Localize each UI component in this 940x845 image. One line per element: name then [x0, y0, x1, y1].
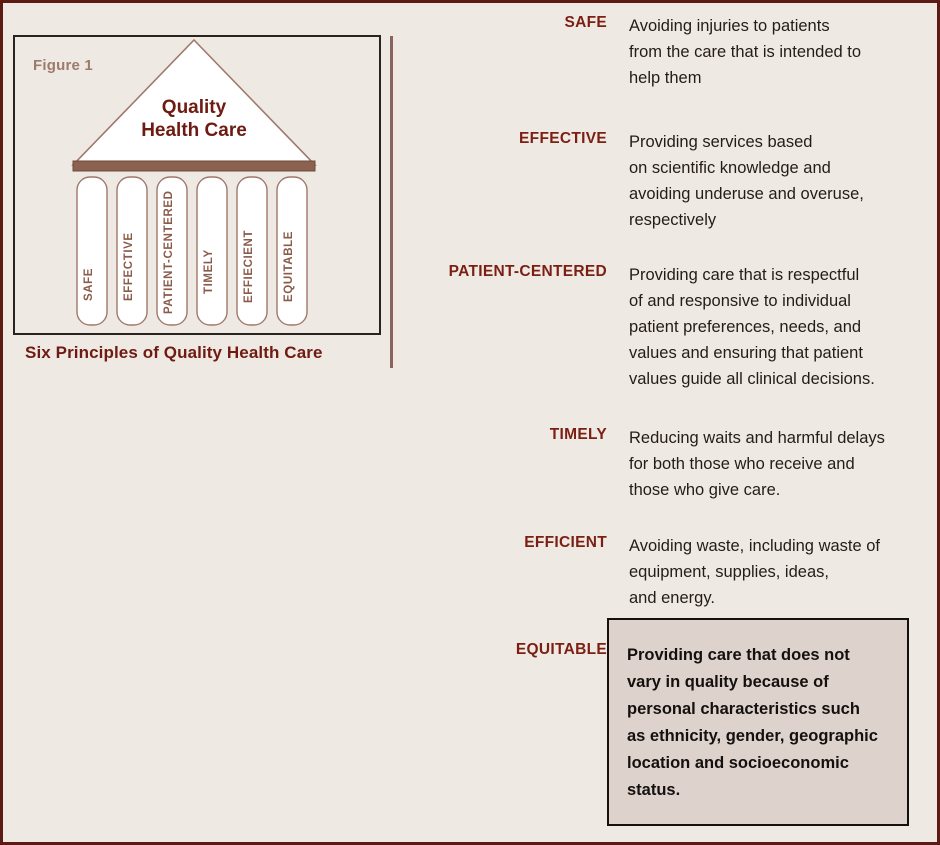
definition-term-safe: SAFE: [401, 13, 607, 32]
definition-term-equitable: EQUITABLE: [401, 640, 607, 659]
figure-right-rule: [390, 36, 393, 368]
roof-title-line2: Health Care: [141, 120, 247, 141]
figure-page: Figure 1 Quality Health Care SAFE EFFECT…: [0, 0, 940, 845]
definition-term-efficient: EFFICIENT: [401, 533, 607, 552]
definition-description-safe: Avoiding injuries to patients from the c…: [629, 13, 861, 91]
figure-panel: Figure 1 Quality Health Care SAFE EFFECT…: [13, 35, 381, 335]
principles-definition-list: SAFE Avoiding injuries to patients from …: [401, 3, 931, 845]
definition-term-timely: TIMELY: [401, 425, 607, 444]
definition-row-effective: EFFECTIVE Providing services based on sc…: [401, 129, 864, 233]
roof-title-line1: Quality: [162, 97, 227, 118]
column-label-patient-centered: PATIENT-CENTERED: [163, 190, 175, 314]
definition-row-timely: TIMELY Reducing waits and harmful delays…: [401, 425, 885, 503]
definition-description-timely: Reducing waits and harmful delays for bo…: [629, 425, 885, 503]
quality-health-care-house-diagram: Quality Health Care SAFE EFFECTIVE PATIE…: [15, 37, 379, 333]
column-label-safe: SAFE: [83, 268, 95, 301]
definition-row-patient-centered: PATIENT-CENTERED Providing care that is …: [401, 262, 875, 392]
definition-row-efficient: EFFICIENT Avoiding waste, including wast…: [401, 533, 880, 611]
column-label-effective: EFFECTIVE: [123, 232, 135, 301]
definition-term-effective: EFFECTIVE: [401, 129, 607, 148]
definition-row-equitable: EQUITABLE Providing care that does not v…: [401, 640, 607, 659]
column-label-equitable: EQUITABLE: [283, 231, 295, 302]
column-label-effiecient: EFFIECIENT: [243, 230, 255, 303]
definition-description-effective: Providing services based on scientific k…: [629, 129, 864, 233]
column-safe: [77, 177, 107, 325]
equitable-callout-box: Providing care that does not vary in qua…: [607, 618, 909, 826]
definition-description-equitable: Providing care that does not vary in qua…: [627, 642, 891, 804]
definition-row-safe: SAFE Avoiding injuries to patients from …: [401, 13, 861, 91]
definition-description-patient-centered: Providing care that is respectful of and…: [629, 262, 875, 392]
definition-description-efficient: Avoiding waste, including waste of equip…: [629, 533, 880, 611]
roof-beam: [73, 161, 315, 171]
definition-term-patient-centered: PATIENT-CENTERED: [401, 262, 607, 281]
column-group: [77, 177, 307, 325]
figure-caption: Six Principles of Quality Health Care: [25, 343, 323, 363]
column-label-timely: TIMELY: [203, 249, 215, 294]
